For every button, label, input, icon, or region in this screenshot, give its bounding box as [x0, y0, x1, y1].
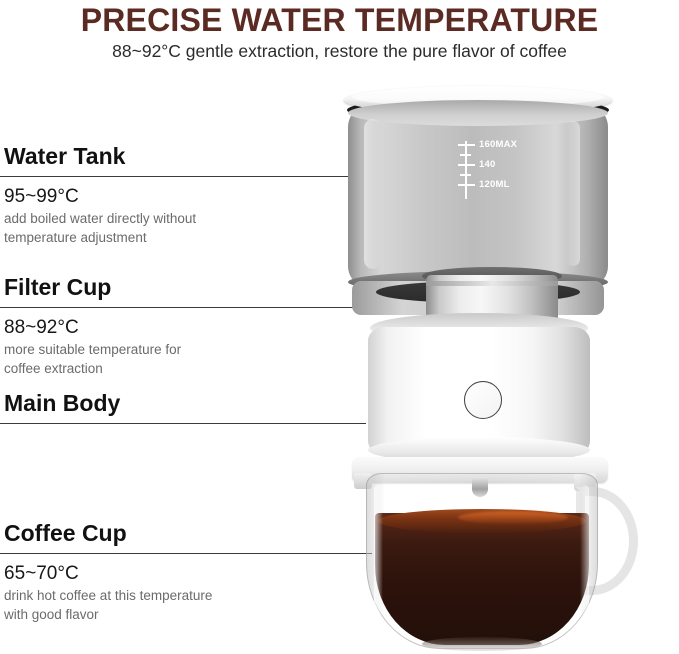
callout-temperature-filter-cup: 88~92°C [4, 315, 181, 340]
callout-temperature-water-tank: 95~99°C [4, 184, 196, 209]
callout-body-filter-cup: 88~92°C more suitable temperature for co… [4, 311, 181, 378]
water-level-scale: 160MAX 140 120ML [455, 141, 565, 199]
callout-body-coffee-cup: 65~70°C drink hot coffee at this tempera… [4, 557, 212, 624]
scale-label-120ml: 120ML [479, 180, 510, 190]
callout-title-filter-cup: Filter Cup [4, 274, 111, 301]
callout-body-water-tank: 95~99°C add boiled water directly withou… [4, 180, 196, 247]
coffee-cup-foot [422, 637, 542, 651]
callout-description-filter-cup-line2: coffee extraction [4, 360, 181, 378]
leader-line-main-body [0, 423, 366, 424]
page-title: PRECISE WATER TEMPERATURE [0, 2, 679, 38]
page-subtitle: 88~92°C gentle extraction, restore the p… [0, 39, 679, 63]
callout-description-coffee-cup-line1: drink hot coffee at this temperature [4, 587, 212, 605]
coffee-surface-highlight [458, 511, 568, 524]
callout-coffee-cup: Coffee Cup [4, 520, 127, 547]
callout-main-body: Main Body [4, 390, 120, 417]
filter-cup-band [426, 281, 558, 286]
callout-title-water-tank: Water Tank [4, 143, 125, 170]
callout-title-coffee-cup: Coffee Cup [4, 520, 127, 547]
callout-water-tank: Water Tank [4, 143, 125, 170]
scale-label-160max: 160MAX [479, 140, 517, 150]
scale-tick-120 [458, 184, 475, 186]
scale-label-140: 140 [479, 160, 495, 170]
scale-tick-160 [458, 144, 475, 146]
callout-title-main-body: Main Body [4, 390, 120, 417]
callout-filter-cup: Filter Cup [4, 274, 111, 301]
callout-description-coffee-cup-line2: with good flavor [4, 606, 212, 624]
coffee-cup-highlight-right [580, 485, 589, 625]
leader-line-water-tank [0, 176, 362, 177]
power-button[interactable] [464, 381, 502, 419]
callout-temperature-coffee-cup: 65~70°C [4, 561, 212, 586]
scale-spine [465, 141, 467, 199]
coffee-cup-highlight-left [374, 485, 383, 630]
scale-tick-150 [460, 154, 471, 156]
scale-tick-140 [458, 164, 475, 166]
leader-line-coffee-cup [0, 553, 372, 554]
callout-description-filter-cup-line1: more suitable temperature for [4, 341, 181, 359]
scale-tick-130 [460, 174, 471, 176]
infographic-page: PRECISE WATER TEMPERATURE 88~92°C gentle… [0, 0, 679, 654]
callout-description-water-tank-line1: add boiled water directly without [4, 210, 196, 228]
water-tank-highlight-right [566, 121, 580, 266]
product-illustration-coffee-maker: 160MAX 140 120ML [330, 85, 670, 650]
water-tank-highlight-left [364, 119, 382, 269]
callout-description-water-tank-line2: temperature adjustment [4, 229, 196, 247]
